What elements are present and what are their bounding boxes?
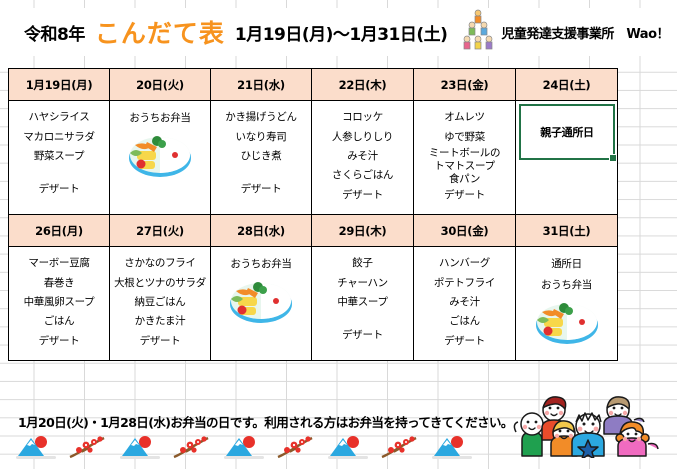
menu-item: デザート <box>39 166 80 199</box>
menu-item: 中華風卵スープ <box>24 293 95 312</box>
menu-item: 中華スープ <box>337 293 387 312</box>
date-header-cell: 27日(火) <box>110 215 211 247</box>
date-header-cell: 31日(土) <box>516 215 618 247</box>
bento-label: おうちお弁当 <box>230 256 291 271</box>
menu-cell-0131[interactable]: 通所日 おうち弁当 <box>516 247 618 361</box>
date-header-cell: 20日(火) <box>110 69 211 101</box>
menu-item: ごはん <box>449 312 480 331</box>
date-header-cell: 21日(水) <box>211 69 312 101</box>
menu-item: 人参しりしり <box>332 127 393 146</box>
week1-menu-row: ハヤシライス マカロニサラダ 野菜スープ デザート おうちお弁当 <box>9 101 618 215</box>
menu-item: デザート <box>140 331 181 350</box>
menu-cell-0127[interactable]: さかなのフライ 大根とツナのサラダ 納豆ごはん かきたま汁 デザート <box>110 247 211 361</box>
mount-fuji-icon <box>118 433 162 461</box>
mount-fuji-icon <box>430 433 474 461</box>
menu-item: オムレツ <box>444 108 485 127</box>
menu-item: ミートボールの <box>429 147 500 160</box>
menu-item: ごはん <box>44 312 75 331</box>
date-header-cell: 28日(水) <box>211 215 312 247</box>
menu-cell-0123[interactable]: オムレツ ゆで野菜 ミートボールの トマトスープ 食パン デザート <box>414 101 516 215</box>
date-header-cell: 23日(金) <box>414 69 516 101</box>
menu-item: ポテトフライ <box>434 273 495 292</box>
menu-item: ひじき煮 <box>241 147 282 166</box>
week2-date-row: 26日(月) 27日(火) 28日(水) 29日(木) 30日(金) 31日(土… <box>9 215 618 247</box>
date-header-cell: 26日(月) <box>9 215 110 247</box>
menu-cell-0128[interactable]: おうちお弁当 <box>211 247 312 361</box>
selected-cell-text: 親子通所日 <box>540 124 594 140</box>
children-pyramid-icon <box>461 8 495 56</box>
attendance-day-label: 通所日 <box>551 256 582 271</box>
menu-cell-0120[interactable]: おうちお弁当 <box>110 101 211 215</box>
plum-blossom-icon <box>170 433 214 461</box>
children-group-icon <box>508 388 677 458</box>
menu-item: デザート <box>342 312 383 345</box>
menu-item: さくらごはん <box>332 166 393 185</box>
menu-item: デザート <box>39 331 80 350</box>
menu-cell-0126[interactable]: マーボー豆腐 春巻き 中華風卵スープ ごはん デザート <box>9 247 110 361</box>
menu-item: みそ汁 <box>449 293 480 312</box>
week1-date-row: 1月19日(月) 20日(火) 21日(水) 22日(木) 23日(金) 24日… <box>9 69 618 101</box>
bento-box-icon <box>121 131 199 183</box>
selected-cell-parent-visit-day[interactable]: 親子通所日 <box>519 104 615 160</box>
menu-item: コロッケ <box>342 108 383 127</box>
fill-handle[interactable] <box>609 154 617 162</box>
menu-item: ゆで野菜 <box>444 127 485 146</box>
menu-item: 食パン <box>449 172 480 185</box>
menu-item: チャーハン <box>337 273 388 292</box>
menu-cell-0129[interactable]: 餃子 チャーハン 中華スープ デザート <box>312 247 414 361</box>
footer-note: 1月20日(火)・1月28日(水)お弁当の日です。利用される方はお弁当を持ってき… <box>18 412 513 431</box>
menu-item: マーボー豆腐 <box>28 254 89 273</box>
menu-item: デザート <box>342 185 383 204</box>
organization-label: 児童発達支援事業所 Wao！ <box>501 23 669 42</box>
bento-label: おうち弁当 <box>541 277 592 292</box>
date-header-cell: 29日(木) <box>312 215 414 247</box>
menu-item: デザート <box>241 166 282 199</box>
date-header-cell: 24日(土) <box>516 69 618 101</box>
date-header-cell: 22日(木) <box>312 69 414 101</box>
menu-item: ハヤシライス <box>29 108 90 127</box>
menu-cell-0130[interactable]: ハンバーグ ポテトフライ みそ汁 ごはん デザート <box>414 247 516 361</box>
menu-item: ハンバーグ <box>439 254 490 273</box>
menu-item: 春巻き <box>44 273 75 292</box>
bento-box-icon <box>222 277 300 329</box>
page-title: こんだて表 <box>95 14 225 50</box>
menu-cell-0121[interactable]: かき揚げうどん いなり寿司 ひじき煮 デザート <box>211 101 312 215</box>
page-header: 令和8年 こんだて表 1月19日(月)〜1月31日(土) 児童発達支援事業所 W… <box>0 8 677 56</box>
date-header-cell: 1月19日(月) <box>9 69 110 101</box>
menu-item: かき揚げうどん <box>225 108 296 127</box>
plum-blossom-icon <box>274 433 318 461</box>
menu-item: みそ汁 <box>347 147 378 166</box>
menu-item: マカロニサラダ <box>23 127 94 146</box>
mount-fuji-icon <box>222 433 266 461</box>
mount-fuji-icon <box>326 433 370 461</box>
menu-item: 餃子 <box>352 254 372 273</box>
menu-cell-0122[interactable]: コロッケ 人参しりしり みそ汁 さくらごはん デザート <box>312 101 414 215</box>
mount-fuji-icon <box>14 433 58 461</box>
plum-blossom-icon <box>378 433 422 461</box>
bento-box-icon <box>528 298 606 350</box>
bento-label: おうちお弁当 <box>129 110 190 125</box>
plum-blossom-icon <box>66 433 110 461</box>
menu-item: 野菜スープ <box>34 147 84 166</box>
footer-decoration-row <box>14 432 534 462</box>
menu-table: 1月19日(月) 20日(火) 21日(水) 22日(木) 23日(金) 24日… <box>8 68 618 361</box>
week2-menu-row: マーボー豆腐 春巻き 中華風卵スープ ごはん デザート さかなのフライ 大根とツ… <box>9 247 618 361</box>
menu-item: いなり寿司 <box>236 127 287 146</box>
menu-item: 納豆ごはん <box>135 293 186 312</box>
era-label: 令和8年 <box>24 20 85 45</box>
menu-item: 大根とツナのサラダ <box>114 273 206 292</box>
menu-item: さかなのフライ <box>124 254 195 273</box>
date-range-label: 1月19日(月)〜1月31日(土) <box>235 20 448 45</box>
menu-cell-0119[interactable]: ハヤシライス マカロニサラダ 野菜スープ デザート <box>9 101 110 215</box>
menu-item: かきたま汁 <box>135 312 186 331</box>
date-header-cell: 30日(金) <box>414 215 516 247</box>
menu-item: デザート <box>444 331 485 350</box>
menu-item: トマトスープ <box>434 159 495 172</box>
menu-cell-0124[interactable]: 親子通所日 <box>516 101 618 215</box>
menu-item: デザート <box>444 185 485 204</box>
